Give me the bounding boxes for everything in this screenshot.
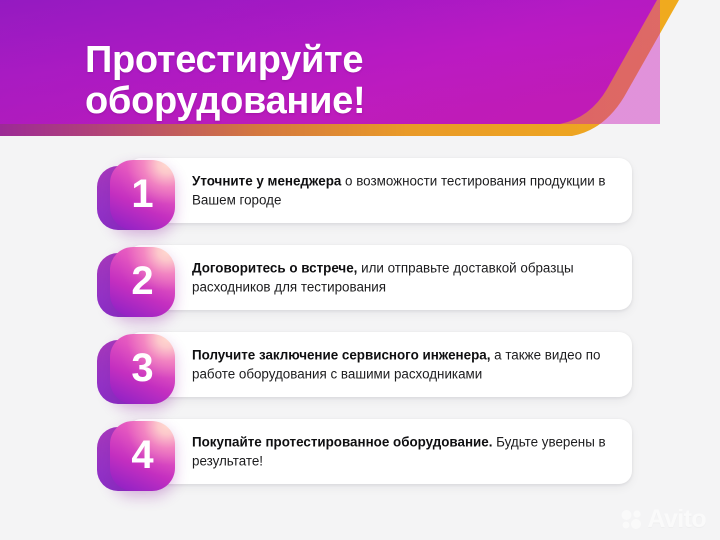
step-text-bold: Договоритесь о встрече, (192, 260, 357, 275)
step-text: Уточните у менеджера о возможности тести… (192, 171, 622, 210)
step-number: 4 (110, 421, 175, 491)
poster-root: Протестируйте оборудование! Уточните у м… (0, 0, 720, 540)
step-number: 3 (110, 334, 175, 404)
list-item: Уточните у менеджера о возможности тести… (0, 158, 720, 223)
steps-list: Уточните у менеджера о возможности тести… (0, 158, 720, 506)
avito-watermark: Avito (621, 507, 706, 532)
step-text: Покупайте протестированное оборудование.… (192, 432, 622, 471)
step-card: Договоритесь о встрече, или отправьте до… (128, 245, 632, 310)
list-item: Договоритесь о встрече, или отправьте до… (0, 245, 720, 310)
step-card: Покупайте протестированное оборудование.… (128, 419, 632, 484)
step-text-bold: Уточните у менеджера (192, 173, 341, 188)
page-title: Протестируйте оборудование! (85, 40, 605, 122)
step-text: Получите заключение сервисного инженера,… (192, 345, 622, 384)
list-item: Получите заключение сервисного инженера,… (0, 332, 720, 397)
step-number: 1 (110, 160, 175, 230)
step-text-bold: Получите заключение сервисного инженера, (192, 347, 490, 362)
step-number-badge: 3 (97, 334, 175, 406)
step-number-badge: 1 (97, 160, 175, 232)
step-number-badge: 2 (97, 247, 175, 319)
step-card: Уточните у менеджера о возможности тести… (128, 158, 632, 223)
header-banner: Протестируйте оборудование! (0, 0, 720, 146)
step-card: Получите заключение сервисного инженера,… (128, 332, 632, 397)
step-text: Договоритесь о встрече, или отправьте до… (192, 258, 622, 297)
list-item: Покупайте протестированное оборудование.… (0, 419, 720, 484)
avito-wordmark: Avito (647, 507, 706, 532)
step-number: 2 (110, 247, 175, 317)
step-text-bold: Покупайте протестированное оборудование. (192, 434, 492, 449)
step-number-badge: 4 (97, 421, 175, 493)
avito-logo-icon (621, 509, 643, 531)
